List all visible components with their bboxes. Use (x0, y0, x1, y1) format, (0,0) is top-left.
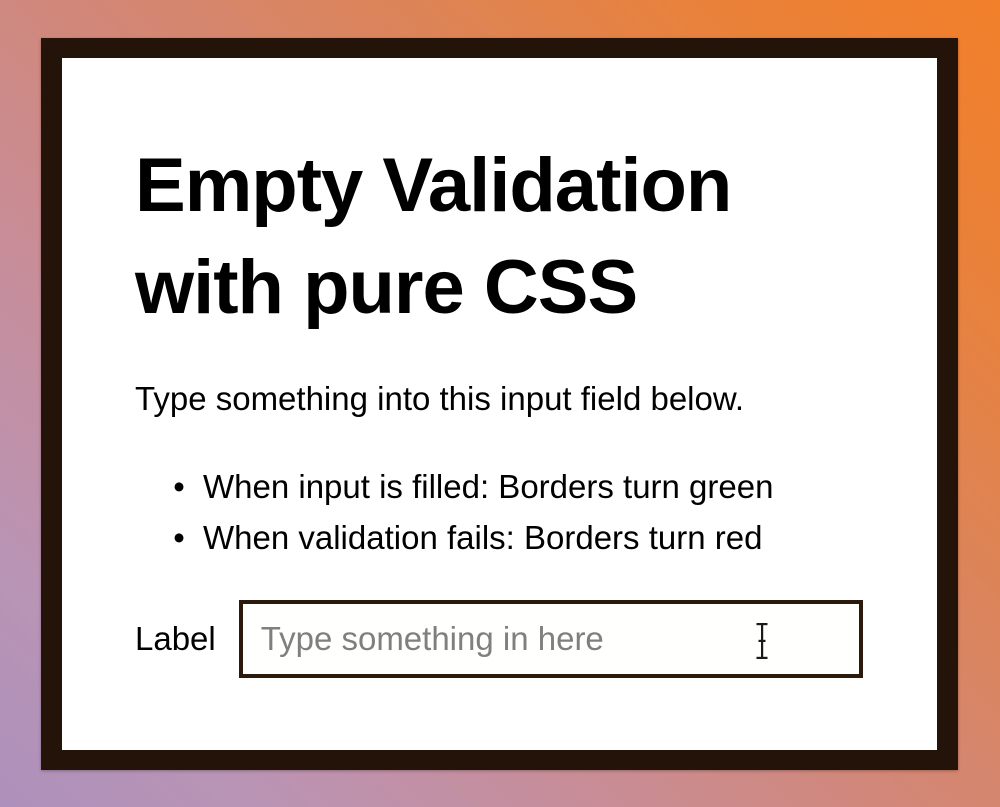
list-item-label: When validation fails: Borders turn red (203, 519, 762, 556)
input-label: Label (135, 619, 216, 659)
card-content: Empty Validation with pure CSS Type some… (135, 58, 897, 750)
bullet-icon: • (169, 512, 189, 563)
bullet-icon: • (169, 461, 189, 512)
list-item-label: When input is filled: Borders turn green (203, 468, 773, 505)
list-item: • When validation fails: Borders turn re… (203, 512, 773, 563)
card-frame: Empty Validation with pure CSS Type some… (41, 38, 958, 770)
page-root: Empty Validation with pure CSS Type some… (0, 0, 1000, 807)
list-item: • When input is filled: Borders turn gre… (203, 461, 773, 512)
intro-paragraph: Type something into this input field bel… (135, 379, 744, 419)
validation-rules-list: • When input is filled: Borders turn gre… (135, 461, 773, 563)
text-input[interactable] (243, 604, 859, 674)
text-input-wrapper[interactable] (239, 600, 863, 678)
card-body: Empty Validation with pure CSS Type some… (62, 58, 937, 750)
form-field-row: Label (135, 600, 863, 678)
page-title: Empty Validation with pure CSS (135, 135, 731, 339)
